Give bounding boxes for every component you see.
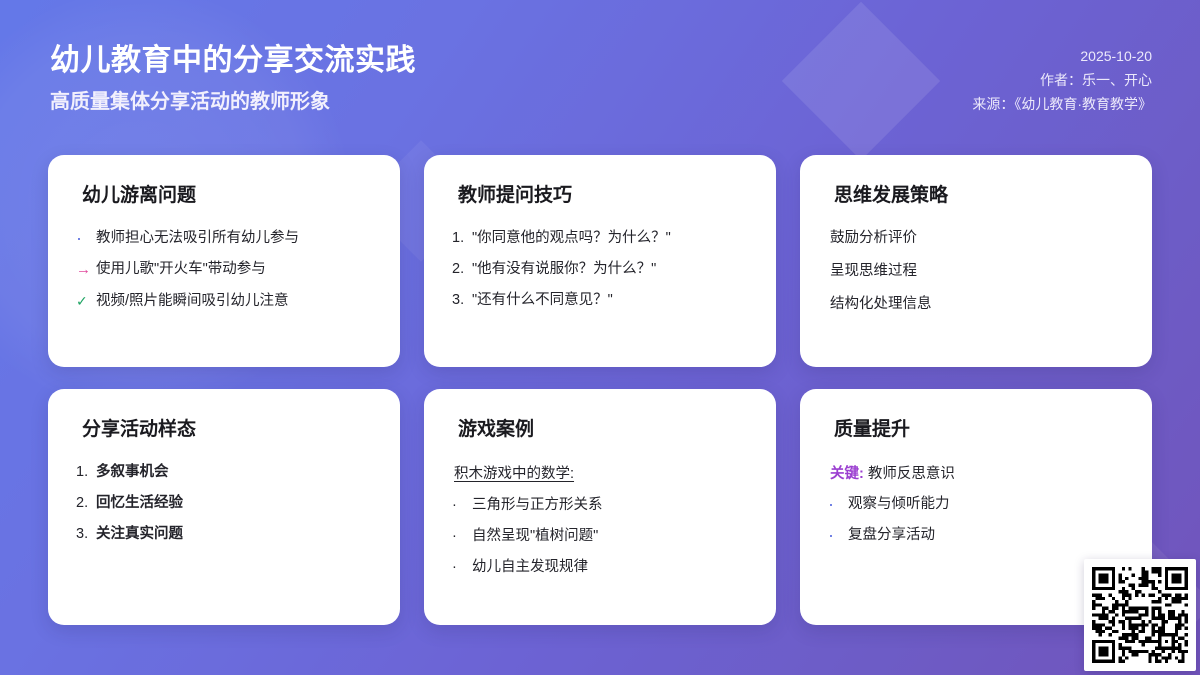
list-item-text: 三角形与正方形关系: [472, 495, 748, 516]
card-body: 1.多叙事机会2.回忆生活经验3.关注真实问题: [76, 462, 372, 545]
list-marker-dot-plain-icon: ·: [452, 526, 472, 547]
card-body: ·教师担心无法吸引所有幼儿参与→使用儿歌"开火车"带动参与✓视频/照片能瞬间吸引…: [76, 228, 372, 312]
page-title: 幼儿教育中的分享交流实践: [50, 44, 416, 79]
slide-header: 幼儿教育中的分享交流实践 高质量集体分享活动的教师形象 2025-10-20 作…: [0, 0, 1200, 150]
card-text-line: 呈现思维过程: [830, 261, 1124, 282]
list-item: →使用儿歌"开火车"带动参与: [76, 259, 372, 281]
list-item: 1."你同意他的观点吗？为什么？": [452, 228, 748, 249]
card-title: 教师提问技巧: [458, 185, 748, 208]
card-title: 思维发展策略: [834, 185, 1124, 208]
list-marker-check-icon: ✓: [76, 291, 96, 311]
header-meta: 2025-10-20 作者：乐一、开心 来源：《幼儿教育·教育教学》: [972, 44, 1152, 116]
list-item-text: 视频/照片能瞬间吸引幼儿注意: [96, 291, 372, 312]
page-subtitle: 高质量集体分享活动的教师形象: [50, 90, 416, 114]
list-item: ·教师担心无法吸引所有幼儿参与: [76, 228, 372, 249]
key-label: 关键:: [830, 466, 864, 482]
list-item-text: 教师担心无法吸引所有幼儿参与: [96, 228, 372, 249]
list-marker-num-icon: 3.: [76, 524, 96, 545]
list-item: ·复盘分享活动: [828, 525, 1124, 546]
card-siwei-fazhan: 思维发展策略鼓励分析评价呈现思维过程结构化处理信息: [800, 155, 1152, 367]
qr-code-image: [1092, 567, 1188, 663]
list-item: 3.关注真实问题: [76, 524, 372, 545]
list-item-text: 复盘分享活动: [848, 525, 1124, 546]
list-marker-num-icon: 1.: [76, 462, 96, 483]
card-jiaoshi-tiwen: 教师提问技巧1."你同意他的观点吗？为什么？"2."他有没有说服你？为什么？"3…: [424, 155, 776, 367]
list-item-text: 幼儿自主发现规律: [472, 557, 748, 578]
list-item: 1.多叙事机会: [76, 462, 372, 483]
list-item: 2."他有没有说服你？为什么？": [452, 259, 748, 280]
card-title: 质量提升: [834, 419, 1124, 442]
card-youer-youli: 幼儿游离问题·教师担心无法吸引所有幼儿参与→使用儿歌"开火车"带动参与✓视频/照…: [48, 155, 400, 367]
qr-code[interactable]: [1084, 559, 1196, 671]
card-body: 积木游戏中的数学:·三角形与正方形关系·自然呈现"植树问题"·幼儿自主发现规律: [452, 462, 748, 578]
list-item-text: "他有没有说服你？为什么？": [472, 259, 748, 280]
card-fenxiang-yangtai: 分享活动样态1.多叙事机会2.回忆生活经验3.关注真实问题: [48, 389, 400, 625]
list-item-text: 使用儿歌"开火车"带动参与: [96, 259, 372, 280]
list-item-text: "还有什么不同意见？": [472, 290, 748, 311]
list-item-text: 自然呈现"植树问题": [472, 526, 748, 547]
list-item: 2.回忆生活经验: [76, 493, 372, 514]
list-item-text: "你同意他的观点吗？为什么？": [472, 228, 748, 249]
list-item: ·三角形与正方形关系: [452, 495, 748, 516]
list-marker-dot-plain-icon: ·: [452, 557, 472, 578]
list-item: ✓视频/照片能瞬间吸引幼儿注意: [76, 291, 372, 312]
meta-source: 来源：《幼儿教育·教育教学》: [972, 92, 1152, 116]
card-title: 分享活动样态: [82, 419, 372, 442]
list-item-text: 关注真实问题: [96, 524, 372, 545]
list-item: ·幼儿自主发现规律: [452, 557, 748, 578]
list-item: 3."还有什么不同意见？": [452, 290, 748, 311]
list-marker-num-icon: 1.: [452, 228, 472, 249]
card-body: 鼓励分析评价呈现思维过程结构化处理信息: [828, 228, 1124, 315]
list-item-text: 回忆生活经验: [96, 493, 372, 514]
list-marker-num-icon: 3.: [452, 290, 472, 311]
header-title-group: 幼儿教育中的分享交流实践 高质量集体分享活动的教师形象: [50, 44, 416, 114]
card-body: 1."你同意他的观点吗？为什么？"2."他有没有说服你？为什么？"3."还有什么…: [452, 228, 748, 311]
card-grid: 幼儿游离问题·教师担心无法吸引所有幼儿参与→使用儿歌"开火车"带动参与✓视频/照…: [48, 155, 1152, 625]
card-text-line: 结构化处理信息: [830, 294, 1124, 315]
card-body: 关键: 教师反思意识·观察与倾听能力·复盘分享活动: [828, 462, 1124, 546]
card-lead-line: 积木游戏中的数学:: [454, 462, 748, 483]
card-title: 幼儿游离问题: [82, 185, 372, 208]
list-item: ·观察与倾听能力: [828, 494, 1124, 515]
list-item-text: 多叙事机会: [96, 462, 372, 483]
card-title: 游戏案例: [458, 419, 748, 442]
meta-author: 作者：乐一、开心: [972, 68, 1152, 92]
key-highlight-line: 关键: 教师反思意识: [830, 462, 1124, 483]
list-item: ·自然呈现"植树问题": [452, 526, 748, 547]
list-marker-num-icon: 2.: [76, 493, 96, 514]
list-marker-dot-icon: ·: [828, 494, 848, 515]
list-marker-arrow-icon: →: [76, 259, 96, 281]
meta-date: 2025-10-20: [972, 44, 1152, 68]
card-text-line: 鼓励分析评价: [830, 228, 1124, 249]
list-marker-dot-plain-icon: ·: [452, 495, 472, 516]
list-marker-num-icon: 2.: [452, 259, 472, 280]
list-marker-dot-icon: ·: [76, 228, 96, 249]
list-item-text: 观察与倾听能力: [848, 494, 1124, 515]
list-marker-dot-icon: ·: [828, 525, 848, 546]
key-text: 教师反思意识: [864, 466, 955, 482]
card-youxi-anli: 游戏案例积木游戏中的数学:·三角形与正方形关系·自然呈现"植树问题"·幼儿自主发…: [424, 389, 776, 625]
